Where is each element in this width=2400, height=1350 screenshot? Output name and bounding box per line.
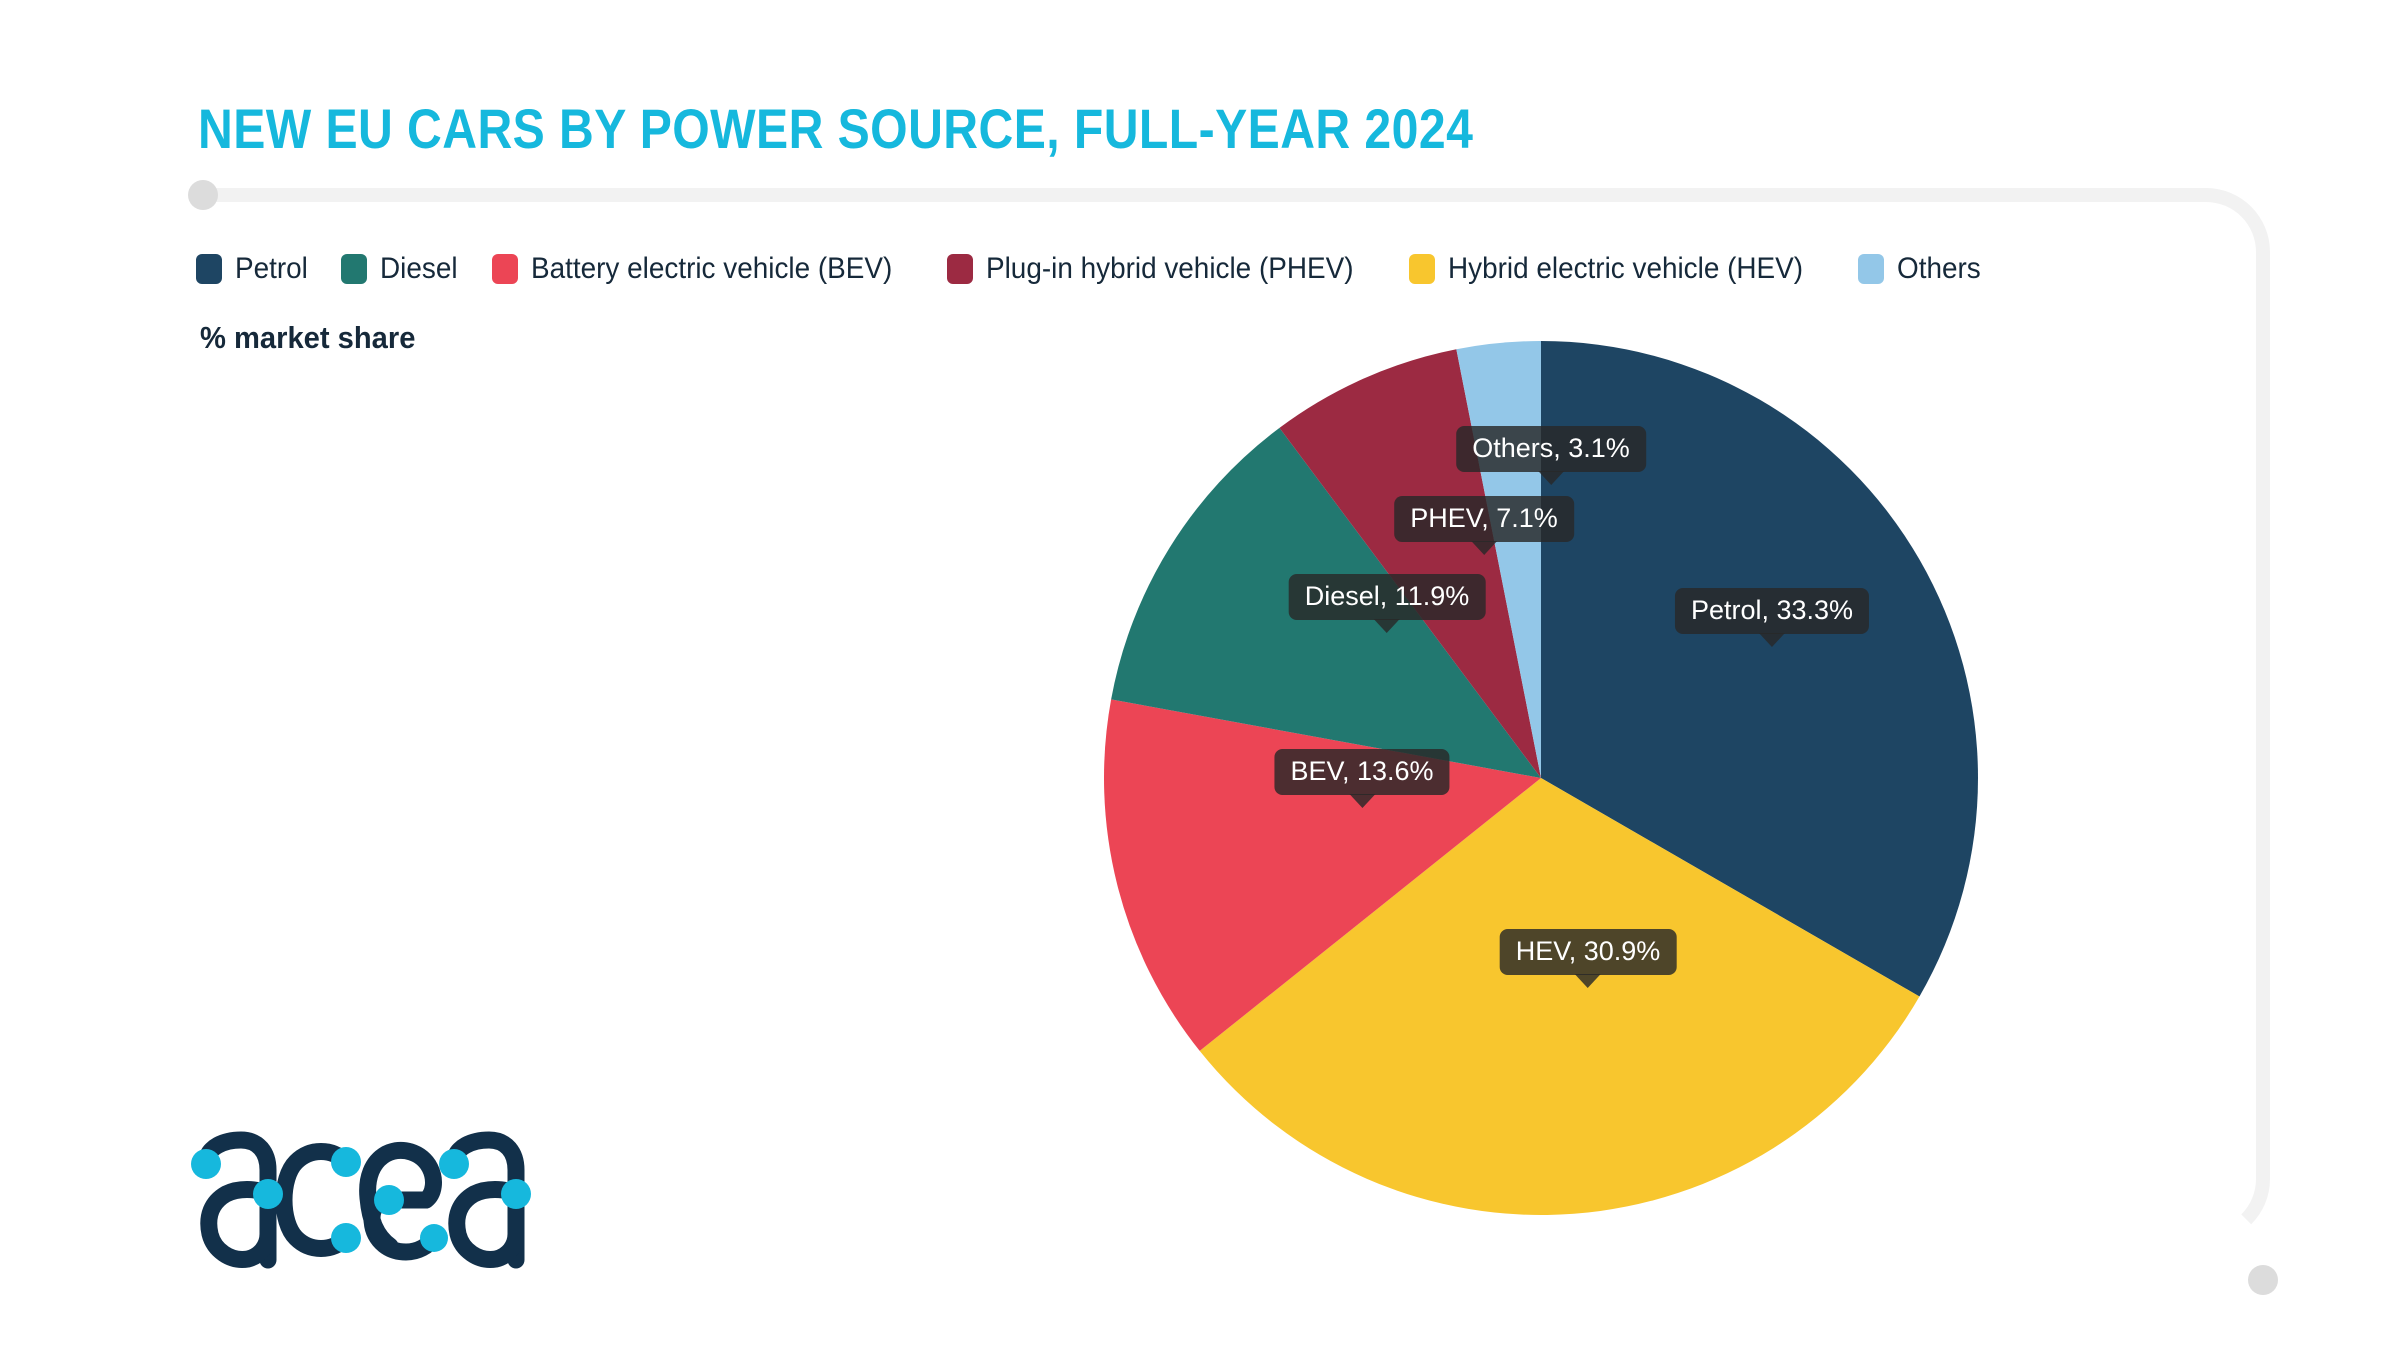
logo-dot-2 [253,1179,283,1209]
frame-track-knob-start [188,180,218,210]
legend-label-petrol: Petrol [235,252,308,286]
logo-dot-5 [374,1185,404,1215]
pie-data-label-diesel: Diesel, 11.9% [1289,574,1486,620]
legend-swatch-others [1858,254,1884,284]
pie-data-label-others: Others, 3.1% [1456,426,1646,472]
legend-item-others[interactable]: Others [1858,252,1987,286]
logo-dot-8 [501,1179,531,1209]
legend-swatch-petrol [196,254,222,284]
legend-item-bev[interactable]: Battery electric vehicle (BEV) [492,252,919,286]
legend-label-phev: Plug-in hybrid vehicle (PHEV) [986,252,1353,286]
page-title: NEW EU CARS BY POWER SOURCE, FULL-YEAR 2… [198,96,1473,161]
acea-logo [186,1122,536,1277]
legend-label-diesel: Diesel [380,252,458,286]
pie-data-label-hev: HEV, 30.9% [1500,929,1677,975]
legend-item-phev[interactable]: Plug-in hybrid vehicle (PHEV) [947,252,1381,286]
logo-dot-3 [331,1147,361,1177]
logo-dot-4 [331,1223,361,1253]
legend-item-diesel[interactable]: Diesel [341,252,463,286]
chart-subtitle: % market share [200,320,415,356]
chart-legend: Petrol Diesel Battery electric vehicle (… [196,252,2015,286]
frame-track-knob-end [2248,1265,2278,1295]
pie-data-label-phev: PHEV, 7.1% [1394,496,1574,542]
legend-item-petrol[interactable]: Petrol [196,252,313,286]
pie-data-label-petrol: Petrol, 33.3% [1675,588,1869,634]
logo-dot-1 [191,1149,221,1179]
legend-label-others: Others [1897,252,1981,286]
pie-data-label-bev: BEV, 13.6% [1274,749,1449,795]
legend-swatch-phev [947,254,973,284]
logo-dot-7 [439,1149,469,1179]
legend-label-hev: Hybrid electric vehicle (HEV) [1448,252,1803,286]
legend-label-bev: Battery electric vehicle (BEV) [531,252,892,286]
legend-swatch-diesel [341,254,367,284]
legend-swatch-bev [492,254,518,284]
legend-swatch-hev [1409,254,1435,284]
legend-item-hev[interactable]: Hybrid electric vehicle (HEV) [1409,252,1830,286]
logo-dot-6 [420,1224,448,1252]
